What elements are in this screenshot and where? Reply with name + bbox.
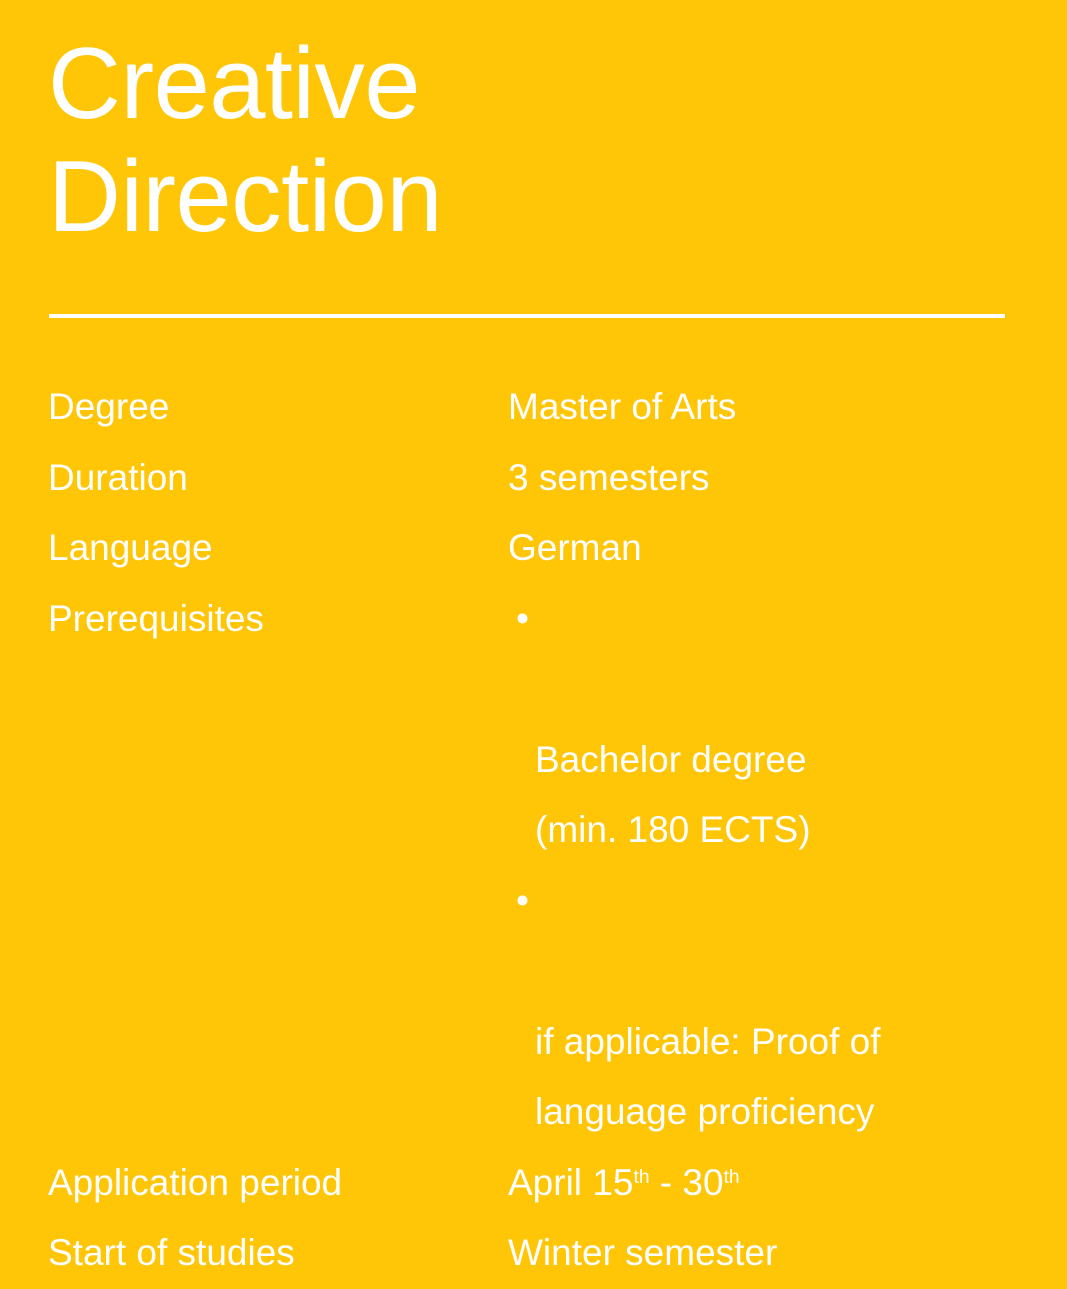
page-title: Creative Direction xyxy=(48,28,442,254)
table-row: Start of studies Winter semester xyxy=(48,1218,1018,1289)
spec-label-language: Language xyxy=(48,513,508,584)
spec-label-duration: Duration xyxy=(48,443,508,514)
bullet-icon: • xyxy=(516,866,529,937)
spec-value-degree: Master of Arts xyxy=(508,372,1018,443)
application-separator: - xyxy=(650,1162,683,1203)
prerequisites-list: • Bachelor degree (min. 180 ECTS) • if a… xyxy=(508,584,1018,1148)
list-item: • Bachelor degree (min. 180 ECTS) xyxy=(508,584,1018,866)
table-row: Duration 3 semesters xyxy=(48,443,1018,514)
spec-label-prerequisites: Prerequisites xyxy=(48,584,508,655)
list-item-text: Bachelor degree (min. 180 ECTS) xyxy=(535,739,811,851)
table-row: Language German xyxy=(48,513,1018,584)
program-info-card: Creative Direction Degree Master of Arts… xyxy=(0,0,1067,1078)
application-end-day: 30 xyxy=(682,1162,723,1203)
application-start-day: 15 xyxy=(592,1162,633,1203)
list-item-text: if applicable: Proof of language profici… xyxy=(535,1021,881,1133)
table-row: Prerequisites • Bachelor degree (min. 18… xyxy=(48,584,1018,1148)
bullet-icon: • xyxy=(516,584,529,655)
application-month: April xyxy=(508,1162,592,1203)
spec-label-application-period: Application period xyxy=(48,1148,508,1219)
program-spec-table: Degree Master of Arts Duration 3 semeste… xyxy=(48,372,1018,1289)
table-row: Application period April 15th - 30th xyxy=(48,1148,1018,1219)
spec-value-prerequisites: • Bachelor degree (min. 180 ECTS) • if a… xyxy=(508,584,1018,1148)
spec-value-start-of-studies: Winter semester xyxy=(508,1218,1018,1289)
application-start-ordinal: th xyxy=(633,1167,649,1188)
list-item: • if applicable: Proof of language profi… xyxy=(508,866,1018,1148)
spec-value-application-period: April 15th - 30th xyxy=(508,1148,1018,1219)
spec-value-language: German xyxy=(508,513,1018,584)
spec-label-start-of-studies: Start of studies xyxy=(48,1218,508,1289)
application-end-ordinal: th xyxy=(724,1167,740,1188)
spec-value-duration: 3 semesters xyxy=(508,443,1018,514)
spec-label-degree: Degree xyxy=(48,372,508,443)
title-divider xyxy=(49,314,1005,318)
table-row: Degree Master of Arts xyxy=(48,372,1018,443)
